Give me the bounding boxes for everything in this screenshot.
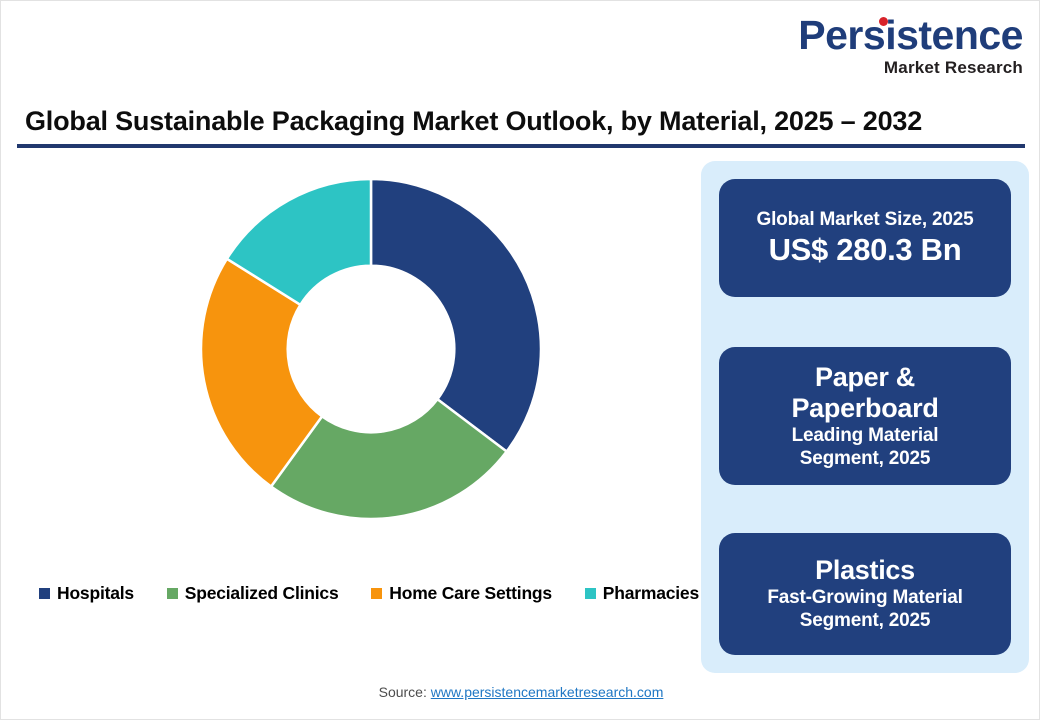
legend-swatch-icon [167,588,178,599]
legend-label: Hospitals [57,583,134,604]
legend-swatch-icon [371,588,382,599]
kpi-panel: Global Market Size, 2025 US$ 280.3 Bn Pa… [701,161,1029,673]
kpi-card-caption-line2: Segment, 2025 [800,609,930,632]
chart-legend: Hospitals Specialized Clinics Home Care … [39,583,699,604]
kpi-card-value: Plastics [815,555,915,586]
kpi-card-fast-growing-segment: Plastics Fast-Growing Material Segment, … [719,533,1011,655]
source-line: Source: www.persistencemarketresearch.co… [1,684,1040,700]
legend-label: Pharmacies [603,583,699,604]
legend-label: Specialized Clinics [185,583,339,604]
brand-logo: Persistence Market Research [798,15,1023,76]
legend-label: Home Care Settings [389,583,552,604]
kpi-card-caption-line1: Leading Material [792,424,939,447]
kpi-card-market-size: Global Market Size, 2025 US$ 280.3 Bn [719,179,1011,297]
logo-tagline: Market Research [798,59,1023,76]
legend-item-pharmacies: Pharmacies [585,583,699,604]
legend-swatch-icon [39,588,50,599]
donut-slice-group [201,179,541,519]
donut-slice-hospitals[interactable] [371,179,541,451]
kpi-card-caption: Global Market Size, 2025 [757,208,974,231]
logo-wordmark: Persistence [798,15,1023,56]
title-divider [17,144,1025,148]
legend-item-hospitals: Hospitals [39,583,134,604]
kpi-card-caption-line2: Segment, 2025 [800,447,930,470]
legend-item-home-care-settings: Home Care Settings [371,583,552,604]
infographic-page: Persistence Market Research Global Susta… [0,0,1040,720]
legend-swatch-icon [585,588,596,599]
kpi-card-value: US$ 280.3 Bn [769,231,962,268]
kpi-card-caption-line1: Fast-Growing Material [767,586,962,609]
kpi-card-leading-segment: Paper & Paperboard Leading Material Segm… [719,347,1011,485]
kpi-card-value-line1: Paper & [815,362,915,393]
kpi-card-value-line2: Paperboard [791,393,938,424]
source-prefix-label: Source: [379,684,431,700]
source-link[interactable]: www.persistencemarketresearch.com [431,684,664,700]
chart-container: Hospitals Specialized Clinics Home Care … [17,153,689,673]
logo-wordmark-text: Persistence [798,12,1023,58]
donut-chart [201,179,541,519]
page-title: Global Sustainable Packaging Market Outl… [25,106,1015,137]
legend-item-specialized-clinics: Specialized Clinics [167,583,339,604]
